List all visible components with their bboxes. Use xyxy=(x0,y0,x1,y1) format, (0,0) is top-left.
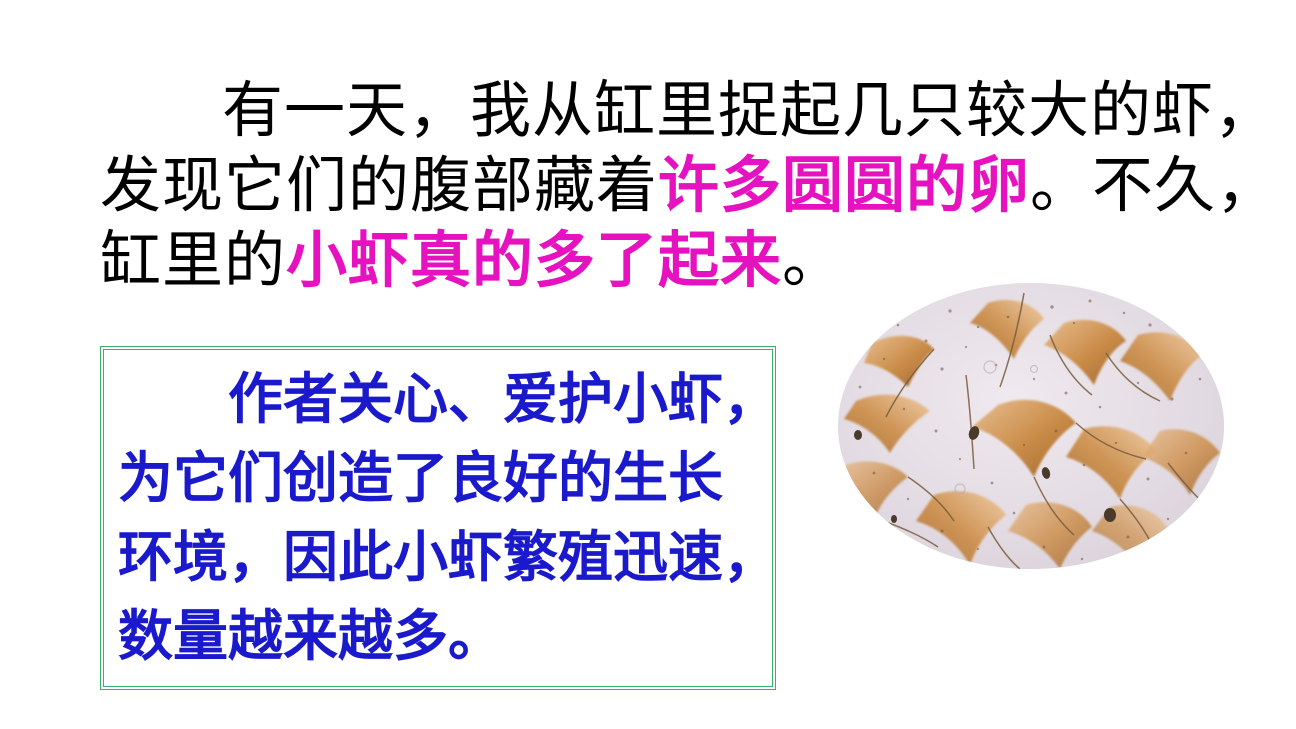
narrative-line-2-plain-b: 。不久， xyxy=(1030,153,1278,220)
narrative-line-3-plain-b: 。 xyxy=(782,228,844,295)
narrative-paragraph: 有一天，我从缸里捉起几只较大的虾， 发现它们的腹部藏着许多圆圆的卵。不久， 缸里… xyxy=(100,74,1190,299)
shrimp-photo-illustration xyxy=(838,283,1224,569)
narrative-line-3-plain-a: 缸里的 xyxy=(100,228,286,295)
commentary-line-4: 数量越来越多。 xyxy=(118,597,766,676)
commentary-line-2: 为它们创造了良好的生长 xyxy=(118,439,766,518)
narrative-line-2-highlight: 许多圆圆的卵 xyxy=(658,153,1030,220)
narrative-line-1: 有一天，我从缸里捉起几只较大的虾， xyxy=(100,74,1190,149)
narrative-line-2: 发现它们的腹部藏着许多圆圆的卵。不久， xyxy=(100,149,1190,224)
commentary-line-1: 作者关心、爱护小虾， xyxy=(118,360,766,439)
narrative-line-2-plain-a: 发现它们的腹部藏着 xyxy=(100,153,658,220)
narrative-line-3-highlight: 小虾真的多了起来 xyxy=(286,228,782,295)
slide-canvas: 有一天，我从缸里捉起几只较大的虾， 发现它们的腹部藏着许多圆圆的卵。不久， 缸里… xyxy=(0,0,1296,729)
commentary-line-3: 环境，因此小虾繁殖迅速， xyxy=(118,518,766,597)
oval-shrimp-larvae-photo xyxy=(838,283,1224,569)
commentary-box: 作者关心、爱护小虾， 为它们创造了良好的生长 环境，因此小虾繁殖迅速， 数量越来… xyxy=(100,346,776,690)
commentary-text: 作者关心、爱护小虾， 为它们创造了良好的生长 环境，因此小虾繁殖迅速， 数量越来… xyxy=(118,360,766,676)
